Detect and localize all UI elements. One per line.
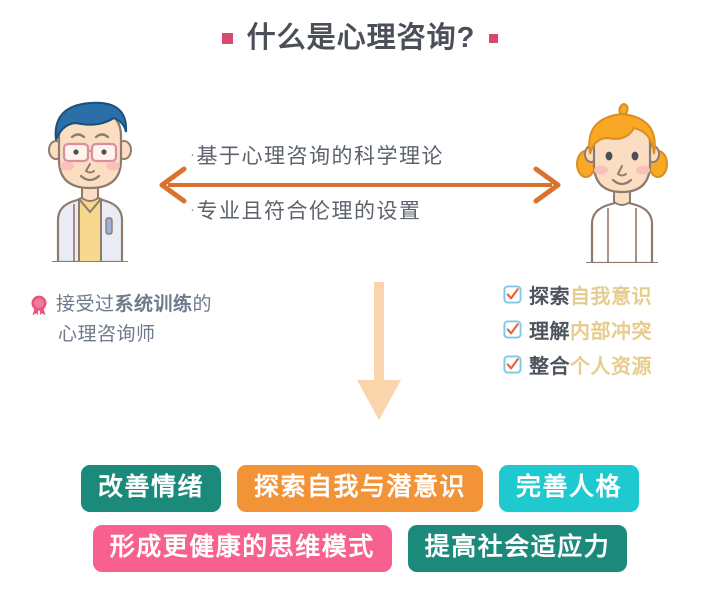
benefit-tag[interactable]: 形成更健康的思维模式 bbox=[93, 525, 392, 572]
caption-prefix: 接受过 bbox=[56, 294, 115, 315]
checklist-item[interactable]: 探索自我意识 bbox=[503, 281, 703, 307]
counselor-caption: 接受过系统训练的 心理咨询师 bbox=[28, 290, 278, 350]
checklist-highlight: 自我意识 bbox=[570, 286, 652, 308]
checklist-highlight: 内部冲突 bbox=[570, 321, 652, 343]
checklist-prefix: 整合 bbox=[529, 356, 570, 378]
checkbox-checked-icon[interactable] bbox=[503, 355, 522, 374]
counselor-caption-line-1: 接受过系统训练的 bbox=[28, 290, 278, 320]
benefit-tag-row-1: 改善情绪 探索自我与潜意识 完善人格 bbox=[0, 465, 720, 512]
counselor-avatar bbox=[28, 92, 153, 267]
checkbox-checked-icon[interactable] bbox=[503, 320, 522, 339]
infographic-page: 什么是心理咨询? bbox=[0, 0, 720, 614]
award-badge-icon bbox=[28, 294, 50, 316]
checklist-item-label: 理解内部冲突 bbox=[529, 315, 652, 344]
center-statement-line-2-text: 专业且符合伦理的设置 bbox=[197, 200, 422, 223]
page-title: 什么是心理咨询? bbox=[0, 24, 720, 53]
counselor-caption-text-2: 心理咨询师 bbox=[58, 320, 156, 350]
checklist-item[interactable]: 理解内部冲突 bbox=[503, 316, 703, 342]
benefit-tag-row-2: 形成更健康的思维模式 提高社会适应力 bbox=[0, 525, 720, 572]
square-bullet-icon-left bbox=[222, 33, 233, 44]
square-bullet-icon-right bbox=[489, 34, 498, 43]
center-statement-line-2: ·专业且符合伦理的设置 bbox=[190, 195, 535, 225]
goals-checklist: 探索自我意识 理解内部冲突 整合个人资源 bbox=[503, 281, 703, 386]
checklist-item-label: 整合个人资源 bbox=[529, 350, 652, 379]
center-statement-line-1: ·基于心理咨询的科学理论 bbox=[190, 140, 535, 170]
checklist-item-label: 探索自我意识 bbox=[529, 280, 652, 309]
benefit-tag[interactable]: 完善人格 bbox=[499, 465, 639, 512]
benefit-tag[interactable]: 改善情绪 bbox=[81, 465, 221, 512]
client-avatar bbox=[560, 98, 685, 268]
checklist-highlight: 个人资源 bbox=[570, 356, 652, 378]
page-title-text: 什么是心理咨询? bbox=[247, 24, 476, 53]
caption-bold-segment: 系统训练 bbox=[115, 294, 193, 315]
down-flow-arrow-icon bbox=[352, 282, 406, 422]
center-statement-block: ·基于心理咨询的科学理论 ·专业且符合伦理的设置 bbox=[150, 140, 570, 240]
counselor-caption-line-2: 心理咨询师 bbox=[28, 320, 278, 350]
checkbox-checked-icon[interactable] bbox=[503, 285, 522, 304]
center-statement-line-1-text: 基于心理咨询的科学理论 bbox=[197, 145, 445, 168]
checklist-prefix: 探索 bbox=[529, 286, 570, 308]
checklist-item[interactable]: 整合个人资源 bbox=[503, 351, 703, 377]
benefit-tag[interactable]: 提高社会适应力 bbox=[408, 525, 628, 572]
checklist-prefix: 理解 bbox=[529, 321, 570, 343]
benefit-tags: 改善情绪 探索自我与潜意识 完善人格 形成更健康的思维模式 提高社会适应力 bbox=[0, 465, 720, 585]
counselor-caption-text-1: 接受过系统训练的 bbox=[56, 290, 212, 320]
caption-suffix: 的 bbox=[193, 294, 213, 315]
benefit-tag[interactable]: 探索自我与潜意识 bbox=[237, 465, 483, 512]
